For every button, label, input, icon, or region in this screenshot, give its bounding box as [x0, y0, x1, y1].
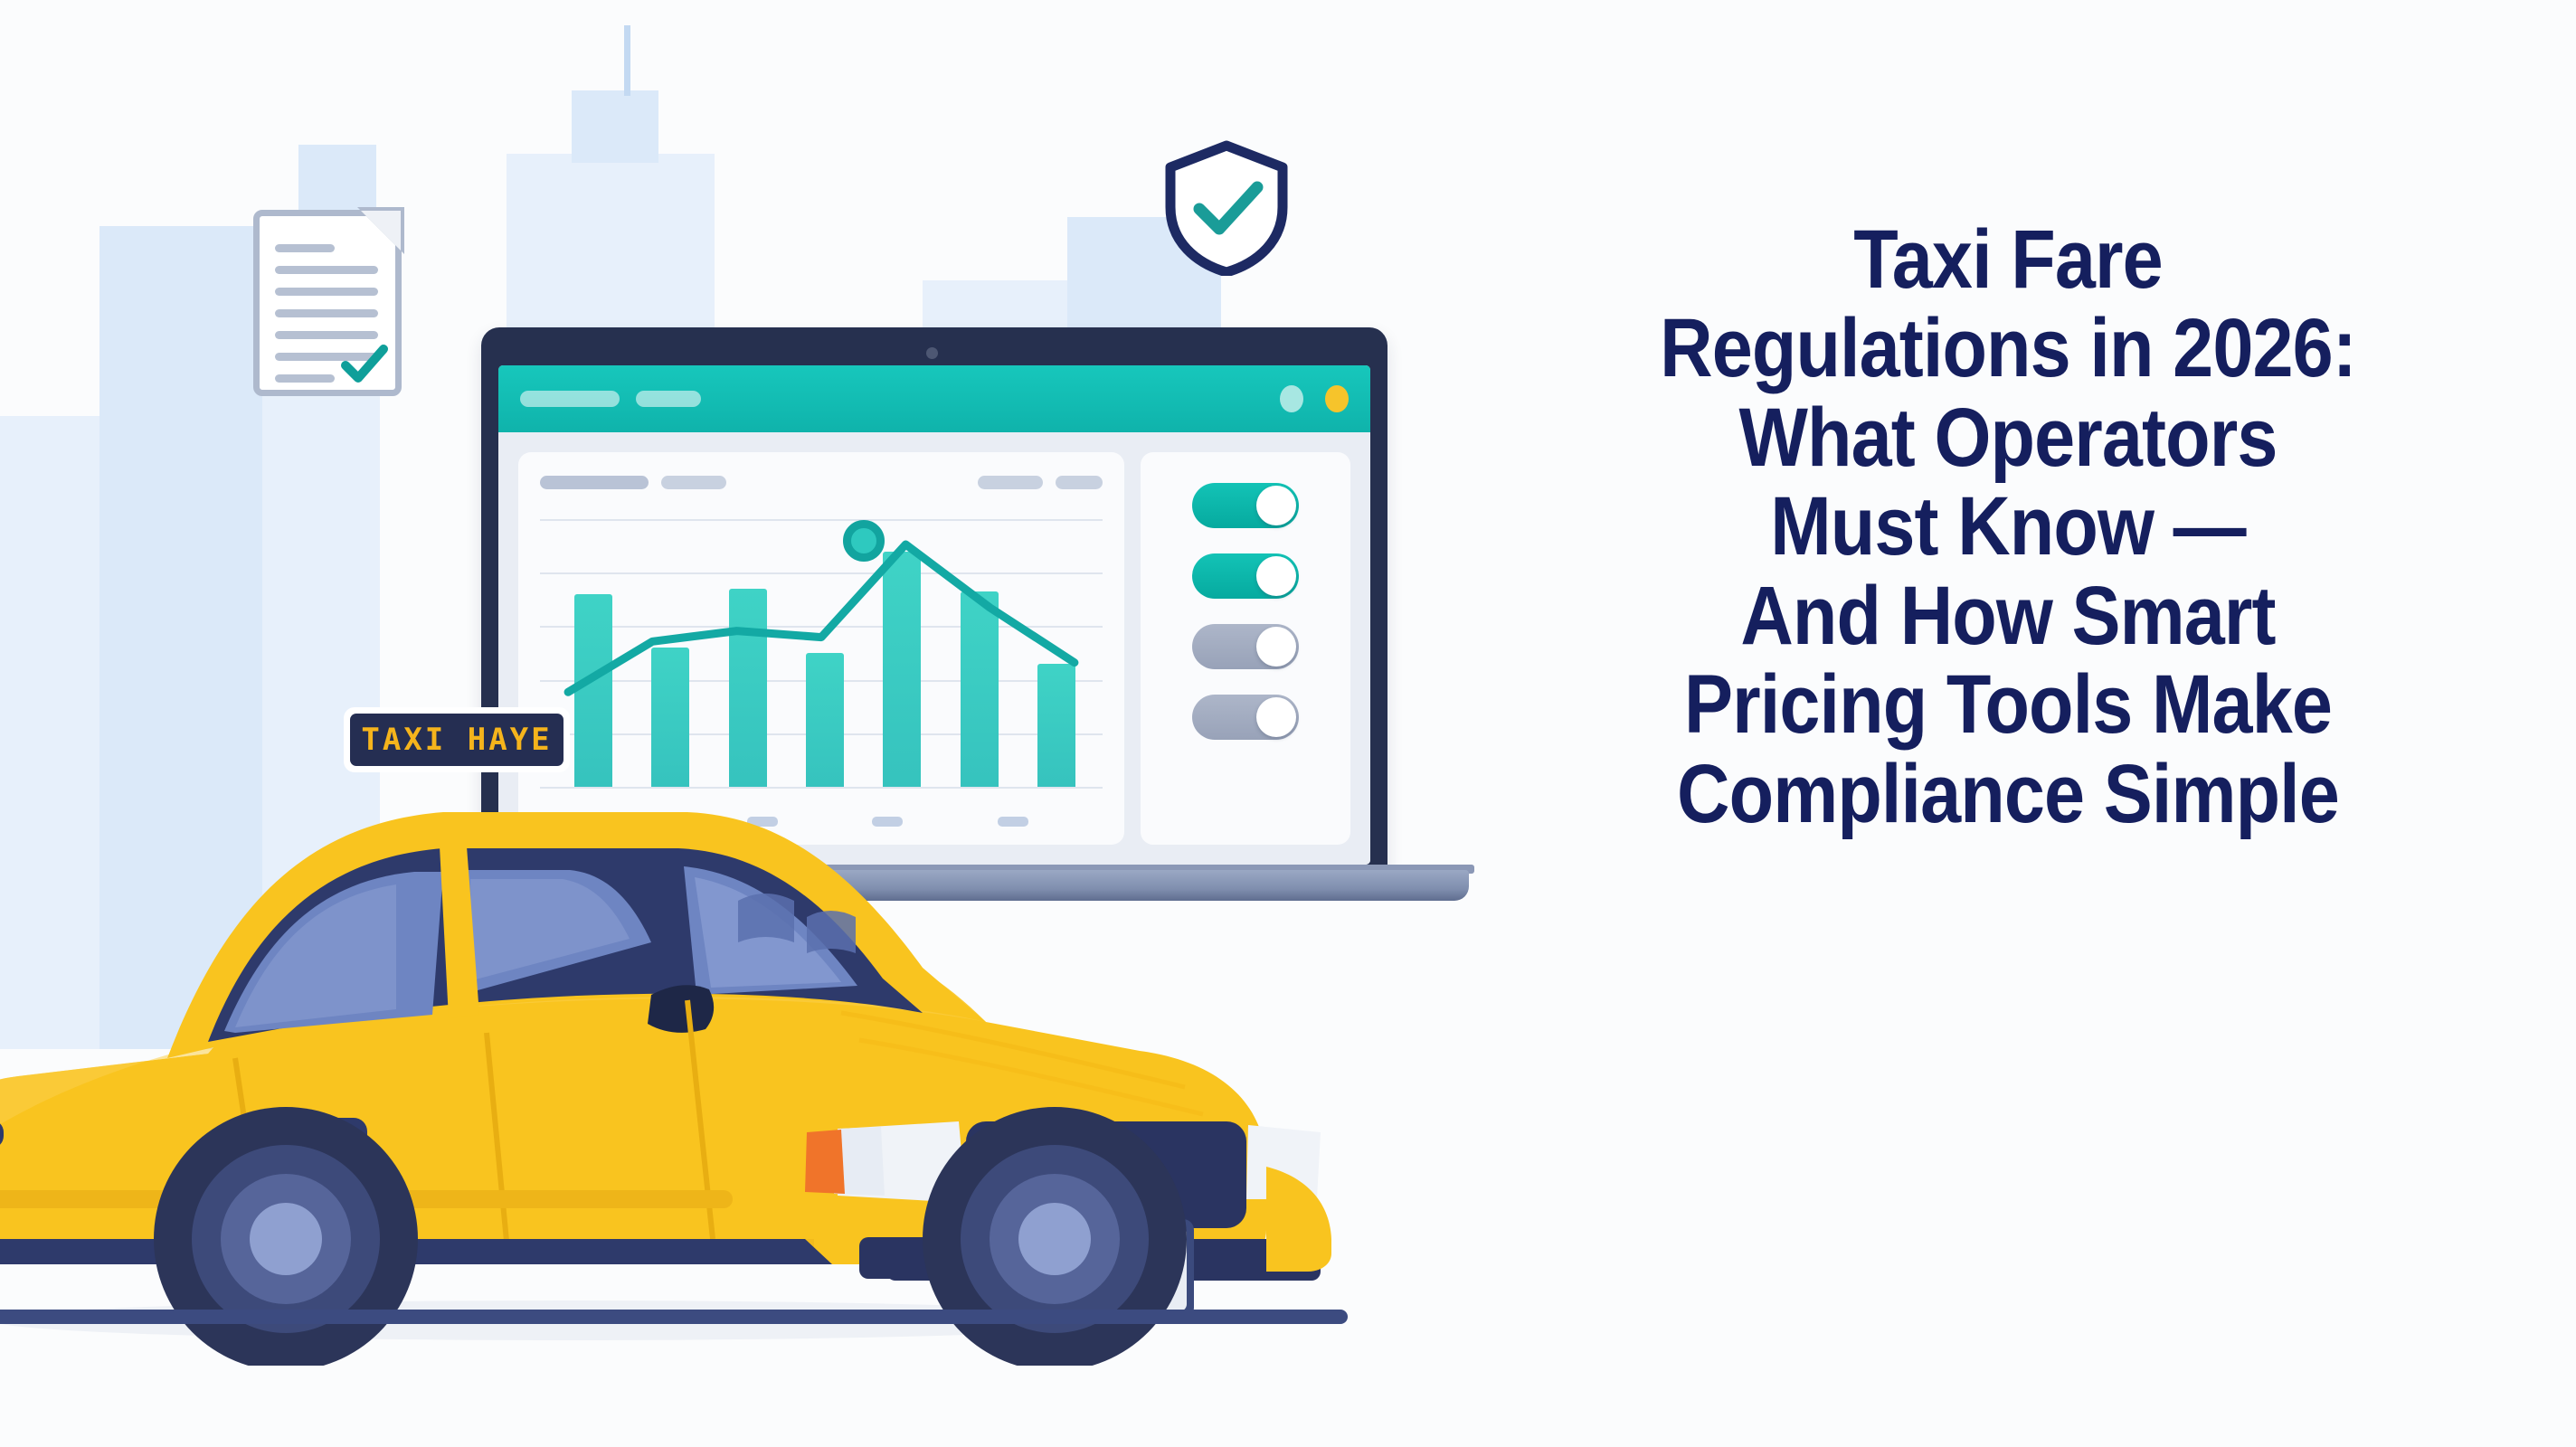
document-fold-inner: [361, 211, 401, 251]
building: [572, 90, 658, 163]
toolbar-placeholder-pill: [520, 391, 620, 407]
check-icon: [340, 340, 389, 389]
toggle-knob[interactable]: [1256, 627, 1296, 667]
document-text-line: [275, 331, 378, 339]
webcam-icon: [926, 347, 938, 359]
chart-title-placeholder: [540, 476, 649, 489]
toolbar-placeholder-pill: [636, 391, 701, 407]
building-spire: [624, 25, 630, 96]
window-dot-teal[interactable]: [1280, 385, 1303, 412]
rear-wheel: [154, 1107, 418, 1366]
hero-banner: TAXI HAYE: [0, 0, 2576, 1447]
headline-line-7: Compliance Simple: [1562, 750, 2454, 838]
document-text-line: [275, 374, 335, 383]
chart-card-actions[interactable]: [978, 476, 1103, 489]
chart-action-placeholder[interactable]: [1056, 476, 1103, 489]
headline-line-4: Must Know —: [1562, 482, 2454, 571]
chart-subtitle-placeholder: [661, 476, 726, 489]
window-dot-amber[interactable]: [1325, 385, 1349, 412]
document-text-line: [275, 309, 378, 317]
shield-check-icon: [1163, 140, 1290, 276]
toggle-knob[interactable]: [1256, 556, 1296, 596]
chart-action-placeholder[interactable]: [978, 476, 1043, 489]
headline-line-1: Taxi Fare: [1562, 215, 2454, 304]
document-text-line: [275, 266, 378, 274]
browser-toolbar: [498, 365, 1370, 432]
front-wheel: [923, 1107, 1187, 1366]
trend-peak-marker: [843, 520, 885, 562]
toggle-knob[interactable]: [1256, 486, 1296, 525]
document-check-icon: [253, 210, 402, 396]
chart-card-header: [540, 472, 1103, 492]
headline-line-2: Regulations in 2026:: [1562, 304, 2454, 392]
window-controls[interactable]: [1280, 385, 1349, 412]
headline-line-3: What Operators: [1562, 393, 2454, 482]
taxi-car-svg: [0, 696, 1402, 1366]
document-text-line: [275, 244, 335, 252]
page-title: Taxi Fare Regulations in 2026: What Oper…: [1562, 215, 2454, 838]
taxi-illustration: TAXI HAYE: [0, 696, 1402, 1366]
toggle-switch-1[interactable]: [1192, 483, 1299, 528]
headline-line-5: And How Smart: [1562, 572, 2454, 660]
document-text-line: [275, 288, 378, 296]
headline-line-6: Pricing Tools Make: [1562, 660, 2454, 749]
toggle-switch-3[interactable]: [1192, 624, 1299, 669]
toggle-switch-2[interactable]: [1192, 553, 1299, 599]
